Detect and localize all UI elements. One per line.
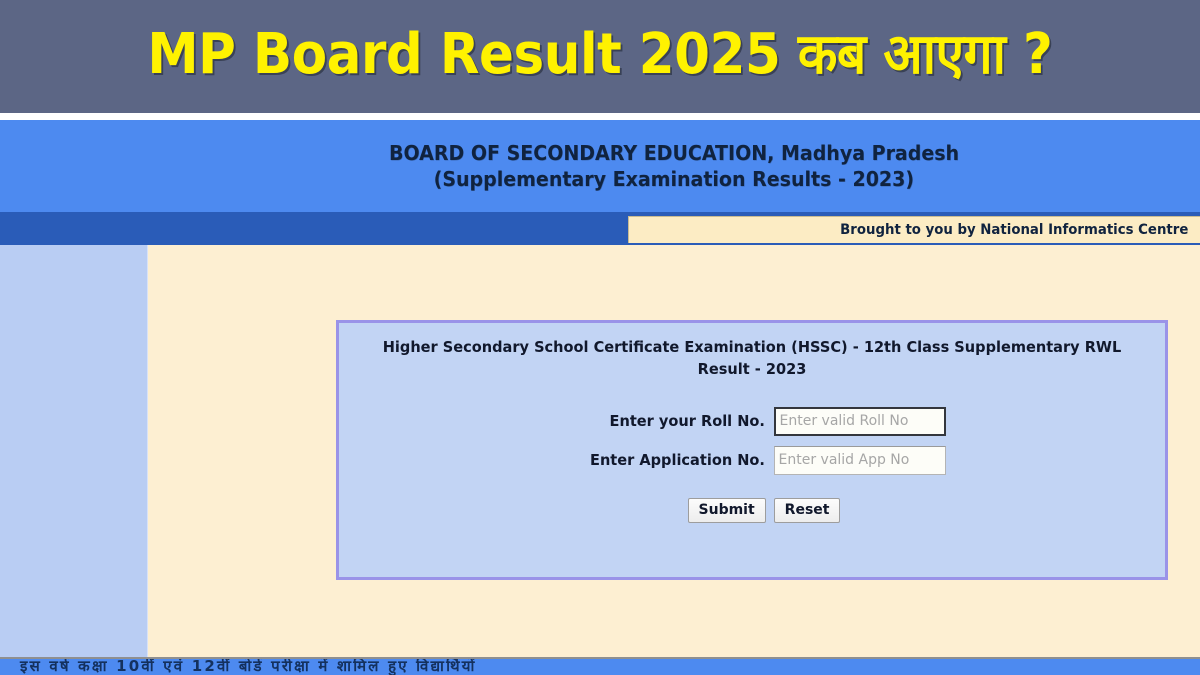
page-root: MP Board Result 2025 कब आएगा ? BOARD OF … (0, 0, 1200, 675)
submit-button[interactable]: Submit (688, 498, 766, 523)
result-form-title: Higher Secondary School Certificate Exam… (363, 337, 1141, 381)
nic-credit-text: Brought to you by National Informatics C… (841, 222, 1189, 238)
site-header: BOARD OF SECONDARY EDUCATION, Madhya Pra… (0, 120, 1200, 212)
reset-button[interactable]: Reset (774, 498, 841, 523)
site-header-text-block: BOARD OF SECONDARY EDUCATION, Madhya Pra… (148, 120, 1200, 212)
promo-banner: MP Board Result 2025 कब आएगा ? (0, 0, 1200, 113)
roll-no-row: Enter your Roll No. (559, 407, 946, 436)
application-no-input[interactable] (774, 446, 946, 475)
banner-divider (0, 113, 1200, 120)
footer-strip: इस वर्ष कक्षा 10वीं एवं 12वीं बोर्ड परीक… (0, 657, 1200, 675)
result-form-fields: Enter your Roll No. Enter Application No… (339, 407, 1165, 523)
footer-marquee-text: इस वर्ष कक्षा 10वीं एवं 12वीं बोर्ड परीक… (20, 657, 477, 675)
result-form-panel: Higher Secondary School Certificate Exam… (336, 320, 1168, 580)
roll-no-input[interactable] (774, 407, 946, 436)
left-sidebar (0, 245, 148, 657)
application-no-label: Enter Application No. (562, 451, 771, 469)
exam-subtitle-line: (Supplementary Examination Results - 202… (434, 168, 914, 191)
form-button-row: Submit Reset (664, 498, 841, 523)
application-no-row: Enter Application No. (559, 446, 946, 475)
page-body: Higher Secondary School Certificate Exam… (0, 245, 1200, 657)
board-name-line: BOARD OF SECONDARY EDUCATION, Madhya Pra… (389, 142, 959, 165)
promo-banner-title: MP Board Result 2025 कब आएगा ? (147, 27, 1052, 87)
main-content-area: Higher Secondary School Certificate Exam… (148, 245, 1200, 657)
roll-no-label: Enter your Roll No. (562, 412, 771, 430)
credit-box: Brought to you by National Informatics C… (628, 216, 1200, 243)
credit-strip: Brought to you by National Informatics C… (0, 212, 1200, 245)
